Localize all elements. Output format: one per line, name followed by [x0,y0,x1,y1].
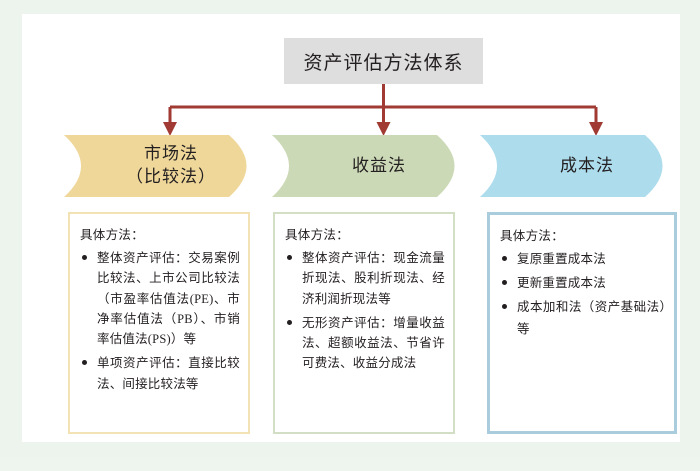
detail-heading-market: 具体方法： [80,224,240,243]
banner-market-line1: 市场法 [144,144,198,163]
banner-market-line2: （比较法） [126,166,216,189]
list-item: 整体资产评估：现金流量折现法、股利折现法、经济利润折现法等 [285,248,445,309]
detail-list-income: 整体资产评估：现金流量折现法、股利折现法、经济利润折现法等 无形资产评估：增量收… [285,248,445,374]
detail-box-income: 具体方法： 整体资产评估：现金流量折现法、股利折现法、经济利润折现法等 无形资产… [273,212,455,434]
banner-market[interactable]: 市场法 （比较法） [64,135,264,197]
detail-heading-cost: 具体方法： [500,225,666,244]
page-title: 资产评估方法体系 [303,48,463,75]
detail-box-market: 具体方法： 整体资产评估：交易案例比较法、上市公司比较法（市盈率估值法(PE)、… [68,212,250,434]
banner-market-label: 市场法 （比较法） [112,143,216,189]
arrowhead-0 [163,122,177,136]
arrowhead-1 [377,122,391,136]
arrowhead-2 [589,122,603,136]
list-item: 无形资产评估：增量收益法、超额收益法、节省许可费法、收益分成法 [285,313,445,374]
list-item: 成本加和法（资产基础法）等 [500,297,666,341]
list-item: 整体资产评估：交易案例比较法、上市公司比较法（市盈率估值法(PE)、市净率估值法… [80,248,240,349]
detail-list-cost: 复原重置成本法 更新重置成本法 成本加和法（资产基础法）等 [500,249,666,341]
banner-cost-line1: 成本法 [560,156,614,175]
detail-heading-income: 具体方法： [285,224,445,243]
banner-income[interactable]: 收益法 [272,135,472,197]
diagram-page: 资产评估方法体系 市场法 （比较法） 具体方法： 整体资产评估：交易案例比较法、… [0,0,700,457]
diagram-canvas: 资产评估方法体系 市场法 （比较法） 具体方法： 整体资产评估：交易案例比较法、… [22,14,680,442]
banner-cost[interactable]: 成本法 [480,135,680,197]
connector-arrowheads [163,122,603,136]
list-item: 复原重置成本法 [500,249,666,271]
detail-box-cost: 具体方法： 复原重置成本法 更新重置成本法 成本加和法（资产基础法）等 [487,212,677,434]
detail-list-market: 整体资产评估：交易案例比较法、上市公司比较法（市盈率估值法(PE)、市净率估值法… [80,248,240,394]
banner-income-line1: 收益法 [352,156,406,175]
diagram-title-box: 资产评估方法体系 [284,38,483,84]
banner-cost-label: 成本法 [546,155,614,178]
list-item: 单项资产评估：直接比较法、间接比较法等 [80,353,240,394]
banner-income-label: 收益法 [338,155,406,178]
list-item: 更新重置成本法 [500,273,666,295]
